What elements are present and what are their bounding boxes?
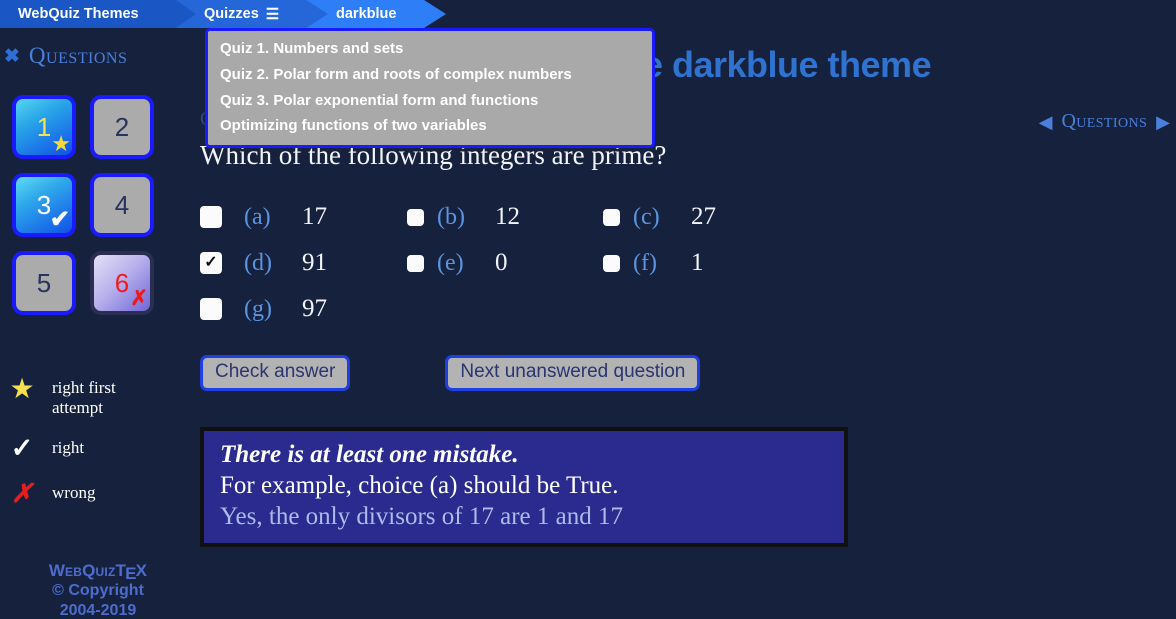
question-button-number: 2 [115, 112, 129, 143]
option-label: (d) [244, 250, 290, 277]
option-value: 1 [691, 249, 704, 277]
option-c[interactable]: (c) 27 [603, 203, 1060, 231]
question-button-number: 6 [115, 268, 129, 299]
checkbox-d[interactable]: ✓ [200, 252, 222, 274]
feedback-line-3: Yes, the only divisors of 17 are 1 and 1… [220, 503, 830, 531]
breadcrumb-item-themes[interactable]: WebQuiz Themes [0, 0, 196, 28]
dropdown-item-optimizing[interactable]: Optimizing functions of two variables [208, 113, 652, 139]
option-a[interactable]: (a) 17 [200, 203, 407, 231]
feedback-line-2: For example, choice (a) should be True. [220, 472, 830, 500]
check-icon: ✓ [8, 435, 36, 462]
question-button-number: 1 [37, 112, 51, 143]
action-buttons: Check answer Next unanswered question [200, 355, 1060, 391]
option-value: 12 [495, 203, 520, 231]
option-label: (c) [633, 204, 679, 231]
option-label: (f) [633, 250, 679, 277]
option-g[interactable]: (g) 97 [200, 295, 407, 323]
option-b[interactable]: (b) 12 [407, 203, 603, 231]
brand-name: WebQuizTEX [0, 560, 196, 581]
dropdown-item-quiz1[interactable]: Quiz 1. Numbers and sets [208, 36, 652, 62]
question-button-number: 5 [37, 268, 51, 299]
star-icon: ★ [51, 133, 71, 155]
dropdown-item-quiz2[interactable]: Quiz 2. Polar form and roots of complex … [208, 62, 652, 88]
answer-options: (a) 17 (b) 12 (c) 27 ✓ (d) 91 (e) 0 [200, 203, 1060, 323]
sidebar-footer: WebQuizTEX © Copyright 2004-2019 [0, 560, 196, 619]
sidebar-header-label: Questions [29, 43, 127, 69]
check-icon: ✔ [50, 208, 70, 232]
star-icon: ★ [8, 375, 36, 403]
feedback-box: There is at least one mistake. For examp… [200, 427, 848, 547]
question-button-3[interactable]: 3 ✔ [12, 173, 76, 237]
breadcrumb: WebQuiz Themes Quizzes ☰ darkblue [0, 0, 1176, 28]
option-label: (g) [244, 296, 290, 323]
brand-tex-x: X [136, 561, 148, 580]
checkbox-f[interactable] [603, 255, 620, 272]
checkbox-a[interactable] [200, 206, 222, 228]
pager-label[interactable]: Questions [1061, 110, 1147, 133]
next-question-icon[interactable]: ▶ [1156, 113, 1170, 131]
page-root: WebQuiz Themes Quizzes ☰ darkblue Quiz 1… [0, 0, 1176, 619]
copyright-text: © Copyright [0, 581, 196, 601]
cross-icon: ✗ [8, 480, 36, 506]
breadcrumb-label: WebQuiz Themes [18, 6, 139, 22]
question-button-4[interactable]: 4 [90, 173, 154, 237]
option-value: 97 [302, 295, 327, 323]
legend-label: right [52, 435, 84, 458]
question-button-5[interactable]: 5 [12, 251, 76, 315]
question-number-grid: 1 ★ 2 3 ✔ 4 5 6 ✗ [12, 95, 172, 315]
check-answer-button[interactable]: Check answer [200, 355, 350, 391]
option-e[interactable]: (e) 0 [407, 249, 603, 277]
breadcrumb-label: darkblue [336, 6, 396, 22]
brand-tex-e: E [125, 563, 137, 584]
sidebar: ✖ Questions [0, 40, 196, 72]
legend-label: right first attempt [52, 375, 152, 417]
checkbox-c[interactable] [603, 209, 620, 226]
checkbox-e[interactable] [407, 255, 424, 272]
question-button-number: 4 [115, 190, 129, 221]
legend-row-right-first: ★ right first attempt [8, 375, 194, 417]
legend-row-right: ✓ right [8, 435, 194, 462]
option-value: 91 [302, 249, 327, 277]
hamburger-icon[interactable]: ☰ [266, 7, 279, 22]
breadcrumb-item-quizzes[interactable]: Quizzes ☰ [176, 0, 328, 28]
option-f[interactable]: (f) 1 [603, 249, 1060, 277]
option-value: 27 [691, 203, 716, 231]
option-value: 17 [302, 203, 327, 231]
dropdown-item-quiz3[interactable]: Quiz 3. Polar exponential form and funct… [208, 88, 652, 114]
feedback-line-1: There is at least one mistake. [220, 441, 830, 469]
option-label: (e) [437, 250, 483, 277]
cross-icon: ✗ [130, 288, 148, 309]
checkbox-b[interactable] [407, 209, 424, 226]
question-button-2[interactable]: 2 [90, 95, 154, 159]
copyright-years: 2004-2019 [0, 601, 196, 619]
question-button-6[interactable]: 6 ✗ [90, 251, 154, 315]
next-unanswered-question-button[interactable]: Next unanswered question [445, 355, 700, 391]
question-panel: Question 6 Which of the following intege… [200, 108, 1060, 547]
option-value: 0 [495, 249, 508, 277]
close-x-icon[interactable]: ✖ [4, 47, 20, 66]
quizzes-dropdown-menu[interactable]: Quiz 1. Numbers and sets Quiz 2. Polar f… [205, 28, 655, 148]
option-d[interactable]: ✓ (d) 91 [200, 249, 407, 277]
breadcrumb-label: Quizzes [204, 6, 259, 22]
question-button-1[interactable]: 1 ★ [12, 95, 76, 159]
option-label: (b) [437, 204, 483, 231]
sidebar-header[interactable]: ✖ Questions [0, 40, 196, 72]
brand-webquiz: WebQuiz [49, 561, 116, 580]
legend-row-wrong: ✗ wrong [8, 480, 194, 506]
legend-label: wrong [52, 480, 95, 503]
legend: ★ right first attempt ✓ right ✗ wrong [8, 375, 194, 524]
option-label: (a) [244, 204, 290, 231]
checkbox-g[interactable] [200, 298, 222, 320]
